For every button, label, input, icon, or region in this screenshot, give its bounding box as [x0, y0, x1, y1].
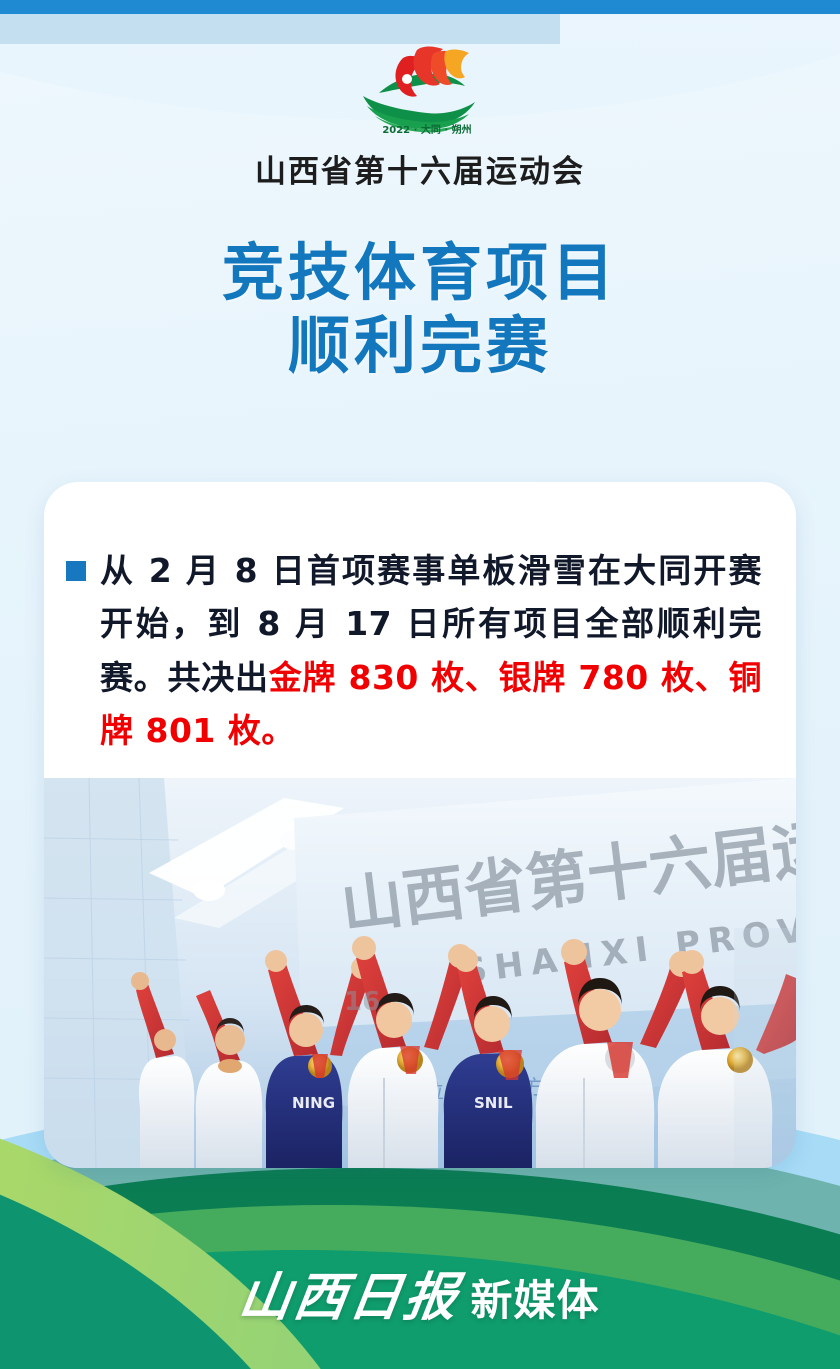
brand-sub-name: 新媒体	[471, 1267, 600, 1328]
headline-line-2: 顺利完赛	[0, 310, 840, 383]
games-emblem-logo: 2022 · 大同 · 朔州	[345, 38, 495, 138]
brand-script-name: 山西日报	[235, 1255, 466, 1330]
footer-brand: 山西日报 新媒体	[0, 1255, 840, 1330]
medal-ceremony-photo: 山西省第十六届运 SHANXI PROV 单位项 方体人	[44, 778, 796, 1168]
bullet-paragraph: 从 2 月 8 日首项赛事单板滑雪在大同开赛开始，到 8 月 17 日所有项目全…	[66, 544, 762, 758]
card-text-block: 从 2 月 8 日首项赛事单板滑雪在大同开赛开始，到 8 月 17 日所有项目全…	[44, 482, 796, 758]
headline-line-1: 竞技体育项目	[0, 237, 840, 310]
svg-text:NING: NING	[292, 1094, 335, 1112]
svg-text:SNIL: SNIL	[474, 1094, 513, 1112]
poster-root: 2022 · 大同 · 朔州 山西省第十六届运动会 竞技体育项目 顺利完赛 从 …	[0, 0, 840, 1369]
content-card: 从 2 月 8 日首项赛事单板滑雪在大同开赛开始，到 8 月 17 日所有项目全…	[44, 482, 796, 1168]
poster-header: 2022 · 大同 · 朔州 山西省第十六届运动会 竞技体育项目 顺利完赛	[0, 0, 840, 382]
emblem-year-city-text: 2022 · 大同 · 朔州	[382, 123, 471, 136]
podium-number: 16	[344, 987, 380, 1017]
organization-name: 山西省第十六届运动会	[0, 146, 840, 191]
body-paragraph: 从 2 月 8 日首项赛事单板滑雪在大同开赛开始，到 8 月 17 日所有项目全…	[100, 544, 762, 758]
square-bullet-icon	[66, 561, 86, 581]
headline-block: 竞技体育项目 顺利完赛	[0, 237, 840, 382]
brand-lockup: 山西日报 新媒体	[240, 1255, 599, 1330]
